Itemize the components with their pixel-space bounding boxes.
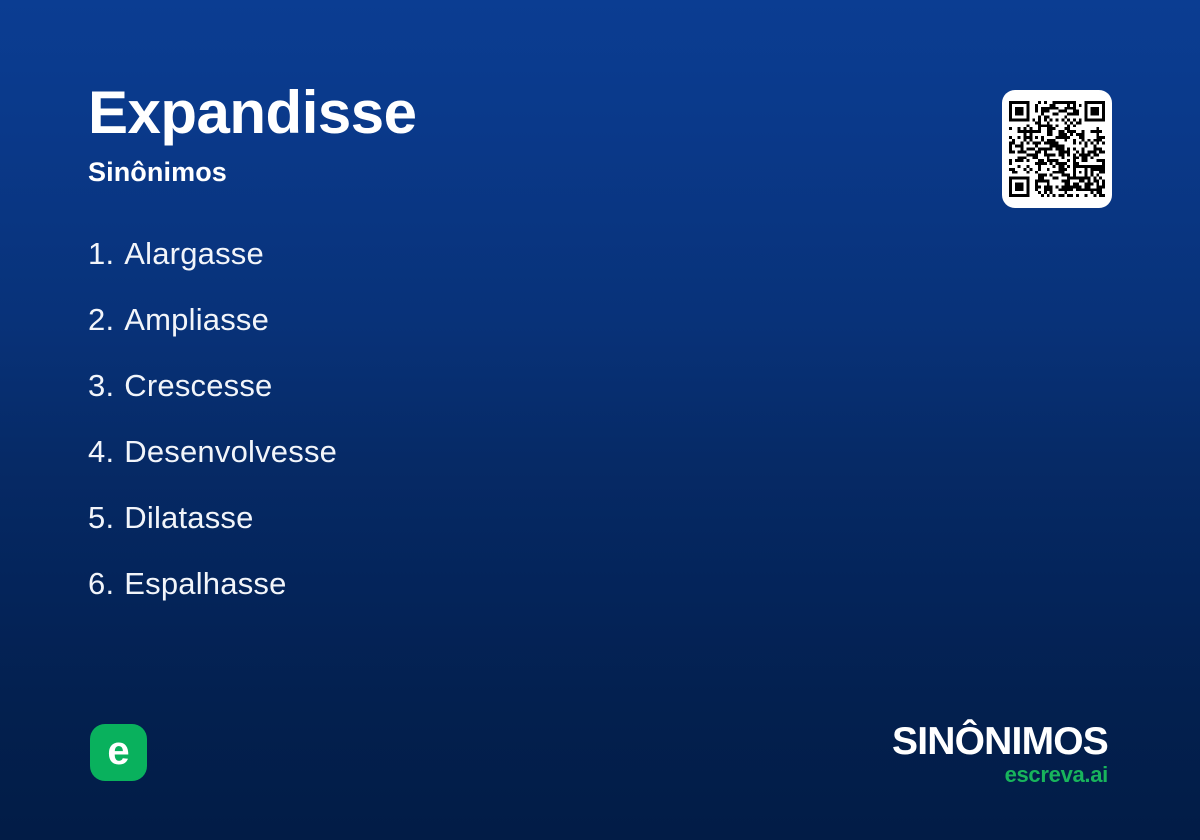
synonym-card: Expandisse Sinônimos 1.Alargasse2.Amplia… [0,0,1200,840]
synonym-word: Dilatasse [124,500,253,536]
footer-logo-subtitle: escreva.ai [892,764,1108,786]
page-title: Expandisse [88,82,788,143]
synonym-index: 4. [88,434,114,470]
synonym-index: 5. [88,500,114,536]
synonym-index: 3. [88,368,114,404]
qr-code-icon [1009,101,1105,197]
synonym-word: Crescesse [124,368,272,404]
synonym-word: Desenvolvesse [124,434,337,470]
synonym-item: 4.Desenvolvesse [88,434,908,500]
synonym-index: 6. [88,566,114,602]
synonym-index: 2. [88,302,114,338]
synonym-item: 5.Dilatasse [88,500,908,566]
synonym-item: 6.Espalhasse [88,566,908,632]
page-subtitle: Sinônimos [88,157,788,188]
header: Expandisse Sinônimos [88,82,788,188]
synonym-item: 1.Alargasse [88,236,908,302]
synonym-word: Ampliasse [124,302,269,338]
brand-mark-escreva[interactable]: e [90,724,147,781]
synonym-word: Alargasse [124,236,264,272]
footer-logo: SINÔNIMOS escreva.ai [892,722,1108,786]
synonym-item: 3.Crescesse [88,368,908,434]
synonym-word: Espalhasse [124,566,286,602]
synonym-list: 1.Alargasse2.Ampliasse3.Crescesse4.Desen… [88,236,908,632]
qr-code-card[interactable] [1002,90,1112,208]
brand-mark-letter: e [107,731,129,771]
synonym-index: 1. [88,236,114,272]
synonym-item: 2.Ampliasse [88,302,908,368]
footer-logo-title: SINÔNIMOS [892,722,1108,761]
